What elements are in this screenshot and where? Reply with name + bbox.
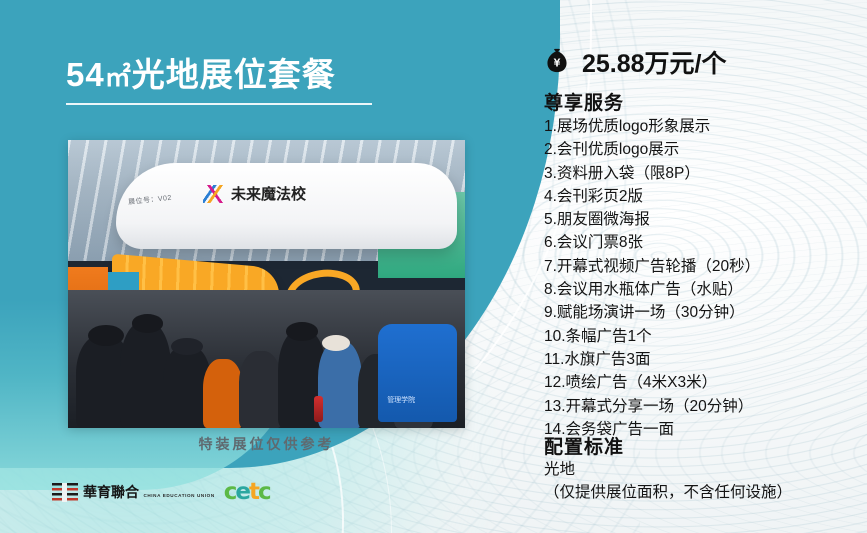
list-item: 8.会议用水瓶体广告（水贴）	[544, 278, 864, 301]
list-item: 4.会刊彩页2版	[544, 185, 864, 208]
list-item: 2.会刊优质logo展示	[544, 138, 864, 161]
list-item: 7.开幕式视频广告轮播（20秒）	[544, 255, 864, 278]
photo-staff-shirt: 管理学院	[378, 324, 457, 422]
configuration-line-1: 光地	[544, 458, 864, 481]
list-item: 10.条幅广告1个	[544, 325, 864, 348]
services-list: 1.展场优质logo形象展示 2.会刊优质logo展示 3.资料册入袋（限8P）…	[544, 115, 864, 441]
services-heading: 尊享服务	[544, 88, 624, 115]
photo-fire-extinguisher	[314, 396, 323, 422]
logo-cetc-letter-4: c	[258, 479, 270, 505]
list-item: 9.赋能场演讲一场（30分钟）	[544, 301, 864, 324]
logo-primary-en: CHINA EDUCATION UNION	[143, 493, 214, 498]
logo-cetc-letter-2: e	[235, 479, 249, 505]
list-item: 5.朋友圈微海报	[544, 208, 864, 231]
price-row: 25.88万元/个	[542, 44, 727, 80]
list-item: 6.会议门票8张	[544, 231, 864, 254]
configuration-body: 光地 （仅提供展位面积，不含任何设施）	[544, 458, 864, 504]
configuration-line-2: （仅提供展位面积，不含任何设施）	[544, 481, 864, 504]
list-item: 11.水旗广告3面	[544, 348, 864, 371]
package-details-column: 25.88万元/个 尊享服务 1.展场优质logo形象展示 2.会刊优质logo…	[542, 0, 867, 533]
page-title-block: 54㎡光地展位套餐	[66, 58, 372, 105]
price-value: 25.88万元/个	[582, 44, 727, 80]
money-bag-icon	[542, 47, 572, 77]
logo-cetc-letter-1: c	[224, 479, 236, 505]
logo-cetc-letter-3: t	[249, 479, 258, 505]
photo-brand-text: 未来魔法校	[231, 183, 306, 204]
logo-china-education-union: 華育聯合 CHINA EDUCATION UNION	[52, 483, 215, 502]
configuration-heading: 配置标准	[544, 432, 624, 459]
title-rest: 光地展位套餐	[132, 56, 336, 93]
union-logo-icon	[52, 483, 78, 502]
photo-brand-logo-icon	[203, 185, 225, 203]
page-title: 54㎡光地展位套餐	[66, 58, 372, 93]
logo-primary-cn: 華育聯合	[83, 485, 139, 501]
list-item: 12.喷绘广告（4米X3米）	[544, 371, 864, 394]
photo-booth-brand: 未来魔法校	[203, 183, 306, 204]
logo-cetc: cetc	[224, 481, 270, 504]
title-number: 54	[66, 56, 105, 93]
title-unit: ㎡	[105, 62, 132, 92]
photo-staff-shirt-text: 管理学院	[387, 395, 415, 405]
booth-photo: 享金位 展位号：V02 未来魔法校 未来魔法校	[68, 140, 465, 428]
list-item: 13.开幕式分享一场（20分钟）	[544, 395, 864, 418]
photo-booth-header-panel	[116, 163, 457, 249]
photo-caption: 特装展位仅供参考	[68, 434, 465, 454]
exhibition-package-poster: 54㎡光地展位套餐 享金位 展位号：V02 未来魔法校 未来魔法校	[0, 0, 867, 533]
brand-logo-bar: 華育聯合 CHINA EDUCATION UNION cetc	[52, 481, 270, 504]
list-item: 1.展场优质logo形象展示	[544, 115, 864, 138]
list-item: 3.资料册入袋（限8P）	[544, 162, 864, 185]
